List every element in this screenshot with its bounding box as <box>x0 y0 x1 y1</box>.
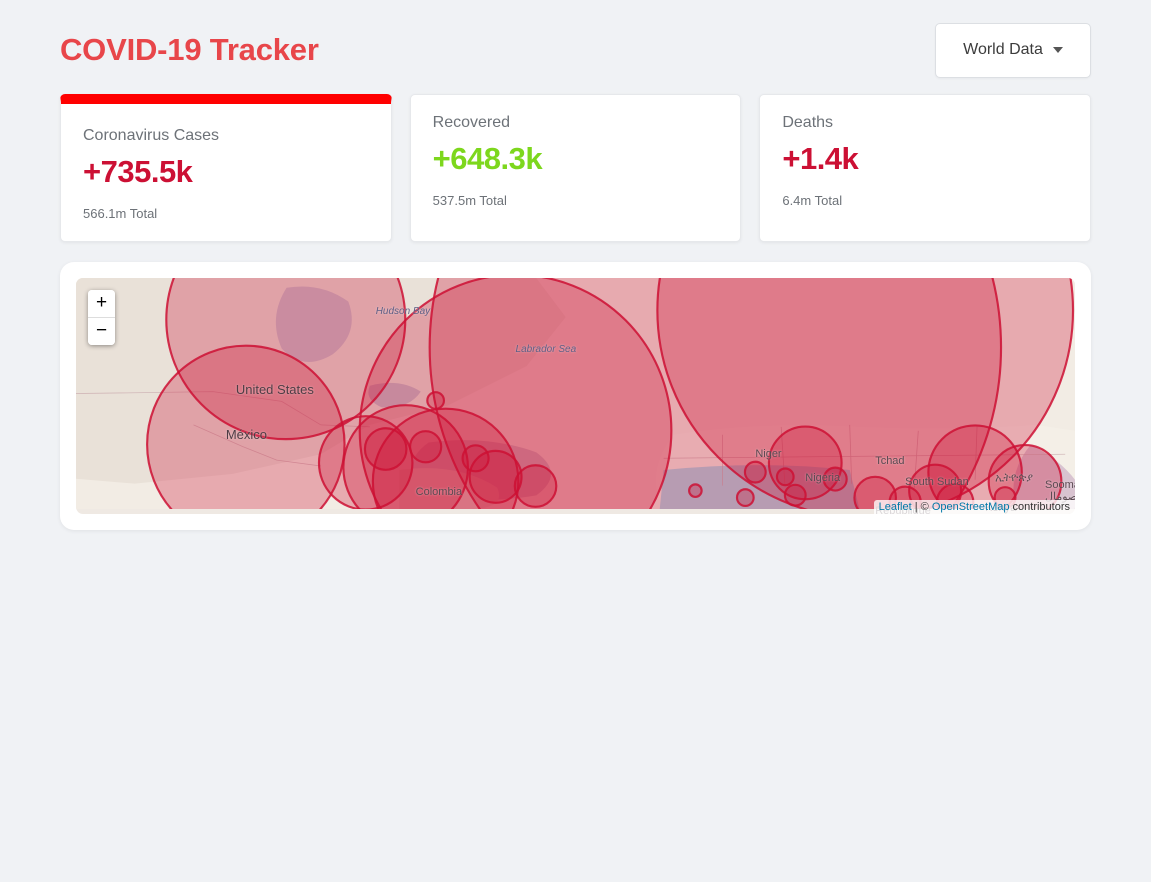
case-circle[interactable] <box>785 485 806 506</box>
case-circle[interactable] <box>689 484 702 497</box>
stat-card-total: 6.4m Total <box>782 193 1068 210</box>
stat-card[interactable]: Deaths+1.4k6.4m Total <box>759 94 1091 242</box>
covid-tracker-app: COVID-19 Tracker World Data Coronavirus … <box>0 0 1151 882</box>
openstreetmap-link[interactable]: OpenStreetMap <box>932 501 1010 513</box>
country-select-dropdown[interactable]: World Data <box>935 23 1091 78</box>
case-circle[interactable] <box>365 428 407 470</box>
map-attribution: Leaflet | © OpenStreetMap contributors <box>874 500 1075 514</box>
case-circles <box>147 278 1073 509</box>
stat-card-title: Coronavirus Cases <box>83 126 369 147</box>
case-circle[interactable] <box>410 431 441 462</box>
map-zoom-control[interactable]: + − <box>88 290 115 345</box>
stat-card-delta: +648.3k <box>433 140 719 179</box>
case-circle[interactable] <box>745 462 766 483</box>
zoom-in-button[interactable]: + <box>88 290 115 317</box>
case-circle[interactable] <box>427 392 444 409</box>
contributors-text: contributors <box>1009 501 1070 513</box>
stat-card[interactable]: Coronavirus Cases+735.5k566.1m Total <box>60 94 392 242</box>
country-select-value: World Data <box>963 41 1043 59</box>
stat-card-delta: +735.5k <box>83 153 369 192</box>
map-panel: + − Leaflet | © OpenStreetMap contributo… <box>60 262 1091 530</box>
map-graphics <box>76 278 1075 509</box>
case-circle[interactable] <box>737 489 754 506</box>
leaflet-link[interactable]: Leaflet <box>879 501 912 513</box>
copyright-symbol: © <box>921 501 932 513</box>
case-circle[interactable] <box>463 445 489 471</box>
stat-card[interactable]: Recovered+648.3k537.5m Total <box>410 94 742 242</box>
app-header: COVID-19 Tracker World Data <box>60 0 1091 88</box>
attribution-separator: | <box>912 501 921 513</box>
chevron-down-icon <box>1053 47 1063 53</box>
stat-card-title: Deaths <box>782 113 1068 134</box>
leaflet-map[interactable]: + − Leaflet | © OpenStreetMap contributo… <box>76 278 1075 514</box>
zoom-out-button[interactable]: − <box>88 317 115 345</box>
page-title: COVID-19 Tracker <box>60 33 319 67</box>
case-circle[interactable] <box>515 465 557 507</box>
stat-card-total: 566.1m Total <box>83 206 369 223</box>
stat-card-title: Recovered <box>433 113 719 134</box>
case-circle[interactable] <box>777 468 794 485</box>
stat-card-total: 537.5m Total <box>433 193 719 210</box>
case-circle[interactable] <box>824 468 847 491</box>
stat-card-delta: +1.4k <box>782 140 1068 179</box>
stats-card-row: Coronavirus Cases+735.5k566.1m TotalReco… <box>60 94 1091 242</box>
